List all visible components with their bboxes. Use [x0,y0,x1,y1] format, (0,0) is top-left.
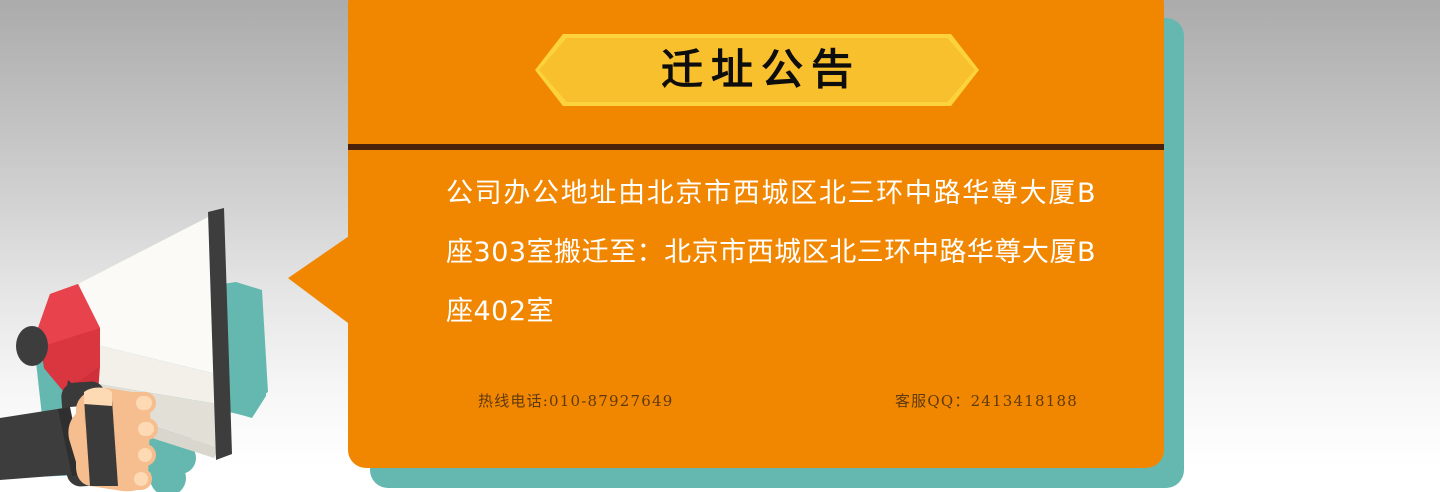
customer-service-qq: 客服QQ：2413418188 [895,390,1078,411]
notice-banner-graphic: 迁址公告 公司办公地址由北京市西城区北三环中路华尊大厦B座303室搬迁至：北京市… [0,0,1440,492]
hand-holding-megaphone [68,388,158,492]
header-divider [348,144,1164,150]
page-title: 迁址公告 [535,34,979,106]
contact-footer: 热线电话:010-87927649 客服QQ：2413418188 [478,390,1078,411]
notice-card: 迁址公告 公司办公地址由北京市西城区北三环中路华尊大厦B座303室搬迁至：北京市… [348,0,1164,468]
title-banner: 迁址公告 [535,34,979,106]
megaphone-rear-cap [16,326,48,366]
megaphone-illustration [0,186,310,492]
notice-body-text: 公司办公地址由北京市西城区北三环中路华尊大厦B座303室搬迁至：北京市西城区北三… [446,164,1096,341]
hotline-phone: 热线电话:010-87927649 [478,390,674,411]
